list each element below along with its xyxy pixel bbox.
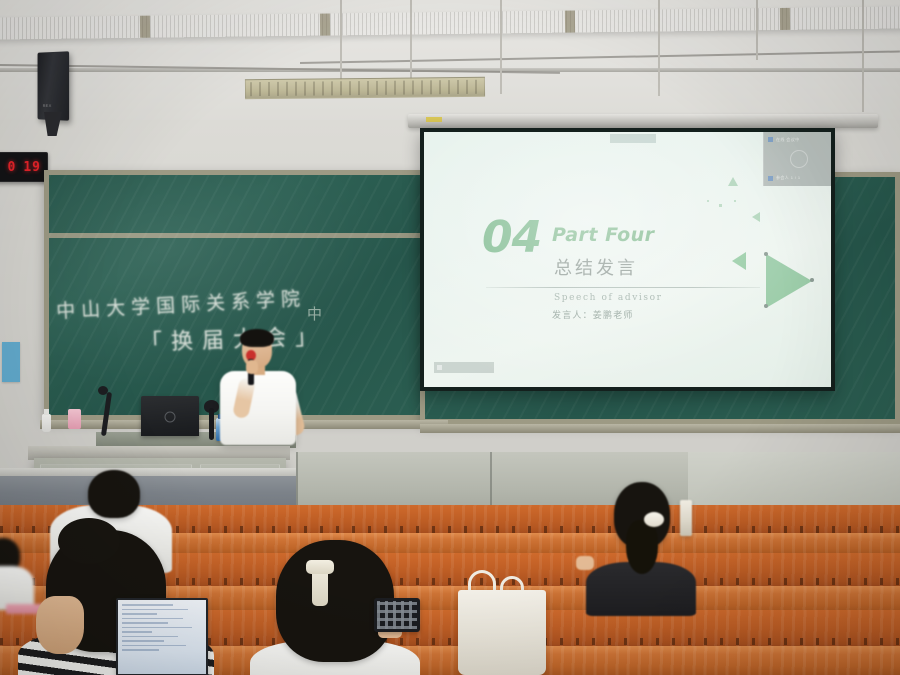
presenter: [214, 330, 304, 448]
participant-icon: [768, 176, 773, 181]
decor-triangle-icon: [728, 177, 738, 186]
decor-big-triangle: [762, 250, 826, 312]
audience-hair-clip: [306, 560, 334, 574]
clock-digits-left: 0: [8, 160, 17, 175]
audience-hair-bun: [58, 518, 120, 564]
watermark-icon: [437, 365, 442, 370]
decor-triangle-icon: [752, 212, 760, 222]
audience-head: [88, 470, 140, 518]
lecture-hall-photo: BEX 0 19 中 中山大学国际关系学院 「换届大会」 在线 会议中: [0, 0, 900, 675]
audience-neck: [36, 596, 84, 654]
tote-bag: [458, 590, 546, 675]
blackboard-chalk-mark: 中: [307, 303, 322, 324]
slide-title-chinese: 总结发言: [554, 254, 638, 280]
chalk-tray-right: [420, 424, 900, 433]
slide-section-number: 04: [482, 216, 541, 260]
wall-speaker-icon: BEX: [38, 51, 70, 120]
presentation-slide: 在线 会议中 参会人 1 / 1 04 Part Four 总结发言: [424, 132, 831, 387]
hanging-wire: [756, 0, 758, 60]
audience-laptop-screen[interactable]: [116, 598, 208, 675]
hanging-wire: [500, 0, 502, 94]
ceiling-light-fixture: [245, 77, 485, 100]
laptop-brand-logo-icon: [165, 411, 176, 422]
speaker-brand-label: BEX: [43, 103, 52, 108]
decor-triangle-icon: [732, 252, 746, 270]
decor-dot-icon: [734, 200, 736, 202]
meeting-status-label: 在线 会议中: [776, 137, 800, 143]
tablet-keyboard-grid: [377, 601, 417, 629]
slide-watermark-top: [610, 134, 656, 143]
meeting-status-dot: [768, 137, 773, 142]
slide-subtitle-english: Speech of advisor: [554, 293, 663, 303]
decor-dot-icon: [719, 204, 722, 207]
clock-digits-right: 19: [23, 160, 41, 175]
hanging-wire: [862, 0, 864, 112]
audience-tablet[interactable]: [374, 598, 420, 632]
led-wall-clock: 0 19: [0, 152, 48, 182]
housing-label-tag: [426, 117, 442, 122]
slide-watermark-bottom: [434, 362, 494, 373]
laptop-content-lines: [122, 604, 202, 670]
projector-screen-housing: [408, 114, 878, 128]
camera-placeholder-icon: [790, 150, 808, 168]
wall-notice-card: [2, 342, 20, 382]
slide-divider-rule: [486, 287, 760, 288]
pink-cup: [68, 409, 81, 429]
podium-laptop: [141, 396, 199, 436]
projection-screen: 在线 会议中 参会人 1 / 1 04 Part Four 总结发言: [420, 128, 835, 391]
slide-subtitle-chinese: 发言人：姜鹏老师: [552, 308, 634, 321]
decor-dot-icon: [707, 200, 709, 202]
slide-title-english: Part Four: [552, 224, 655, 246]
presenter-torso: [220, 371, 296, 445]
meeting-overlay-panel[interactable]: 在线 会议中 参会人 1 / 1: [763, 132, 831, 186]
hand-sanitizer-bottle: [42, 414, 51, 432]
participant-count-label: 参会人 1 / 1: [776, 175, 801, 181]
hanging-wire: [658, 0, 660, 96]
thermos-bottle: [680, 500, 692, 536]
presenter-hand: [246, 360, 258, 374]
audience-scrunchie: [644, 512, 664, 527]
audience-ponytail: [626, 520, 658, 574]
audience-hand: [576, 556, 594, 570]
